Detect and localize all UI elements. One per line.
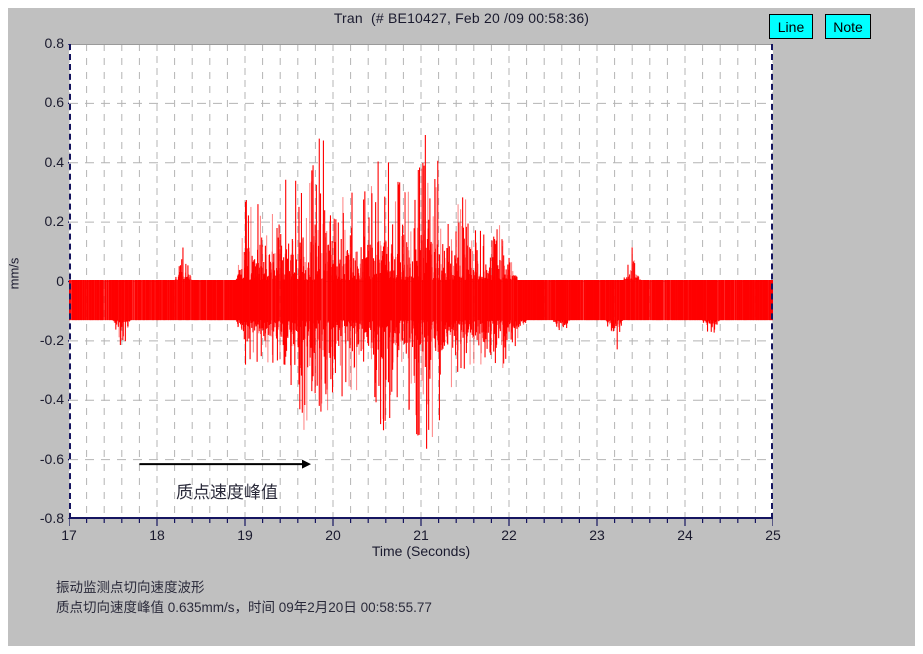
- x-tick-label: 22: [489, 527, 529, 543]
- y-tick-label: 0.8: [18, 35, 64, 51]
- plot-area[interactable]: [69, 44, 773, 519]
- y-axis-tick-labels: -0.8-0.6-0.4-0.200.20.40.60.8: [16, 44, 64, 519]
- plot-left-border: [69, 44, 71, 519]
- x-tick-label: 24: [665, 527, 705, 543]
- x-tick-label: 19: [225, 527, 265, 543]
- y-axis-label: mm/s: [6, 258, 21, 290]
- x-tick-label: 23: [577, 527, 617, 543]
- x-tick-label: 20: [313, 527, 353, 543]
- y-tick-label: -0.4: [18, 391, 64, 407]
- annotation-label: 质点速度峰值: [176, 478, 278, 503]
- x-axis-tick-labels: 171819202122232425: [69, 523, 773, 543]
- y-tick-label: -0.8: [18, 510, 64, 526]
- y-tick-label: -0.6: [18, 451, 64, 467]
- caption-line-1: 振动监测点切向速度波形: [56, 578, 432, 598]
- annotation-arrow-icon: [69, 44, 773, 519]
- y-tick-label: 0.2: [18, 213, 64, 229]
- y-tick-label: 0: [18, 273, 64, 289]
- caption-line-2: 质点切向速度峰值 0.635mm/s，时间 09年2月20日 00:58:55.…: [56, 598, 432, 618]
- note-button[interactable]: Note: [825, 14, 871, 39]
- y-tick-label: 0.4: [18, 154, 64, 170]
- x-tick-label: 18: [137, 527, 177, 543]
- y-tick-label: -0.2: [18, 332, 64, 348]
- line-button[interactable]: Line: [769, 14, 813, 39]
- x-axis-label: Time (Seconds): [69, 543, 773, 559]
- x-tick-label: 25: [753, 527, 793, 543]
- plot-top-border: [69, 44, 773, 45]
- plot-right-border: [771, 44, 773, 519]
- x-tick-label: 21: [401, 527, 441, 543]
- x-tick-label: 17: [49, 527, 89, 543]
- caption-block: 振动监测点切向速度波形 质点切向速度峰值 0.635mm/s，时间 09年2月2…: [56, 578, 432, 618]
- y-tick-label: 0.6: [18, 94, 64, 110]
- plot-window: Tran (# BE10427, Feb 20 /09 00:58:36) Li…: [8, 8, 915, 646]
- x-axis-ticks: [69, 519, 773, 527]
